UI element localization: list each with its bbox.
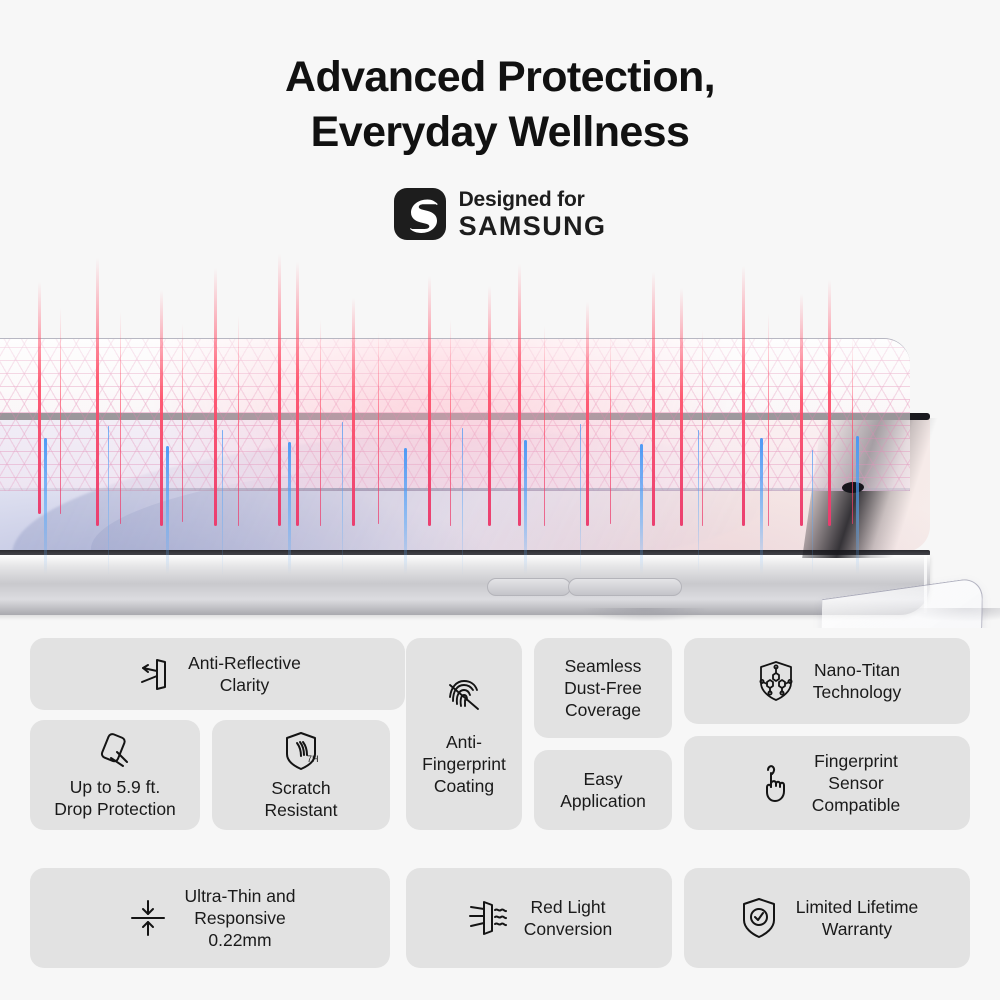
shield-7h-icon: 7H <box>279 729 323 773</box>
feature-label: Ultra-Thin and Responsive 0.22mm <box>185 885 296 951</box>
feature-card-dust-free[interactable]: Seamless Dust-Free Coverage <box>534 638 672 738</box>
feature-card-warranty[interactable]: Limited Lifetime Warranty <box>684 868 970 968</box>
feature-label: Up to 5.9 ft. Drop Protection <box>54 776 176 820</box>
headline-line-2: Everyday Wellness <box>0 105 1000 160</box>
designed-for-samsung-badge: Designed for SAMSUNG <box>0 188 1000 240</box>
hero-product-illustration <box>0 250 1000 628</box>
shield-check-icon <box>736 895 782 941</box>
feature-card-drop-protection[interactable]: Up to 5.9 ft. Drop Protection <box>30 720 200 830</box>
badge-text: Designed for SAMSUNG <box>459 189 607 240</box>
feature-card-anti-fingerprint[interactable]: Anti- Fingerprint Coating <box>406 638 522 830</box>
feature-label: Anti- Fingerprint Coating <box>422 731 506 797</box>
phone-metal-frame <box>0 555 930 615</box>
samsung-s-mark-icon <box>394 188 446 240</box>
feature-label: Red Light Conversion <box>524 896 613 940</box>
volume-button-icon[interactable] <box>487 578 571 596</box>
power-button-icon[interactable] <box>568 578 682 596</box>
red-light-conversion-icon <box>466 896 510 940</box>
glass-tint-overlay <box>0 339 910 491</box>
feature-label: Anti-Reflective Clarity <box>188 652 301 696</box>
feature-card-anti-reflective[interactable]: Anti-Reflective Clarity <box>30 638 405 710</box>
anti-reflective-icon <box>134 654 174 694</box>
feature-label: Scratch Resistant <box>265 777 338 821</box>
feature-card-easy-application[interactable]: Easy Application <box>534 750 672 830</box>
feature-card-ultra-thin[interactable]: Ultra-Thin and Responsive 0.22mm <box>30 868 390 968</box>
feature-label: Easy Application <box>560 768 646 812</box>
svg-text:7H: 7H <box>307 754 319 764</box>
product-feature-page: Advanced Protection, Everyday Wellness D… <box>0 0 1000 1000</box>
feature-label: Limited Lifetime Warranty <box>796 896 919 940</box>
badge-line-1: Designed for <box>459 189 607 210</box>
header: Advanced Protection, Everyday Wellness D… <box>0 0 1000 258</box>
badge-line-2: SAMSUNG <box>459 213 607 240</box>
glass-bottom-edge <box>0 488 910 491</box>
shield-molecule-icon <box>753 658 799 704</box>
thickness-arrows-icon <box>125 895 171 941</box>
frame-shadow-a <box>580 608 710 622</box>
screen-protector-glass <box>0 338 910 491</box>
tapping-hand-icon <box>754 760 798 806</box>
fingerprint-slash-icon <box>441 671 487 717</box>
drop-protection-icon <box>93 730 137 772</box>
headline-line-1: Advanced Protection, <box>285 53 715 101</box>
feature-label: Seamless Dust-Free Coverage <box>564 655 642 721</box>
feature-card-fingerprint-sensor[interactable]: Fingerprint Sensor Compatible <box>684 736 970 830</box>
feature-cards-grid: Anti-Reflective Clarity Up to 5.9 ft. Dr… <box>0 628 1000 1000</box>
feature-card-red-light-conversion[interactable]: Red Light Conversion <box>406 868 672 968</box>
page-title: Advanced Protection, Everyday Wellness <box>0 50 1000 160</box>
feature-card-scratch-resistant[interactable]: 7H Scratch Resistant <box>212 720 390 830</box>
feature-label: Nano-Titan Technology <box>813 659 902 703</box>
feature-card-nano-titan[interactable]: Nano-Titan Technology <box>684 638 970 724</box>
feature-label: Fingerprint Sensor Compatible <box>812 750 901 816</box>
